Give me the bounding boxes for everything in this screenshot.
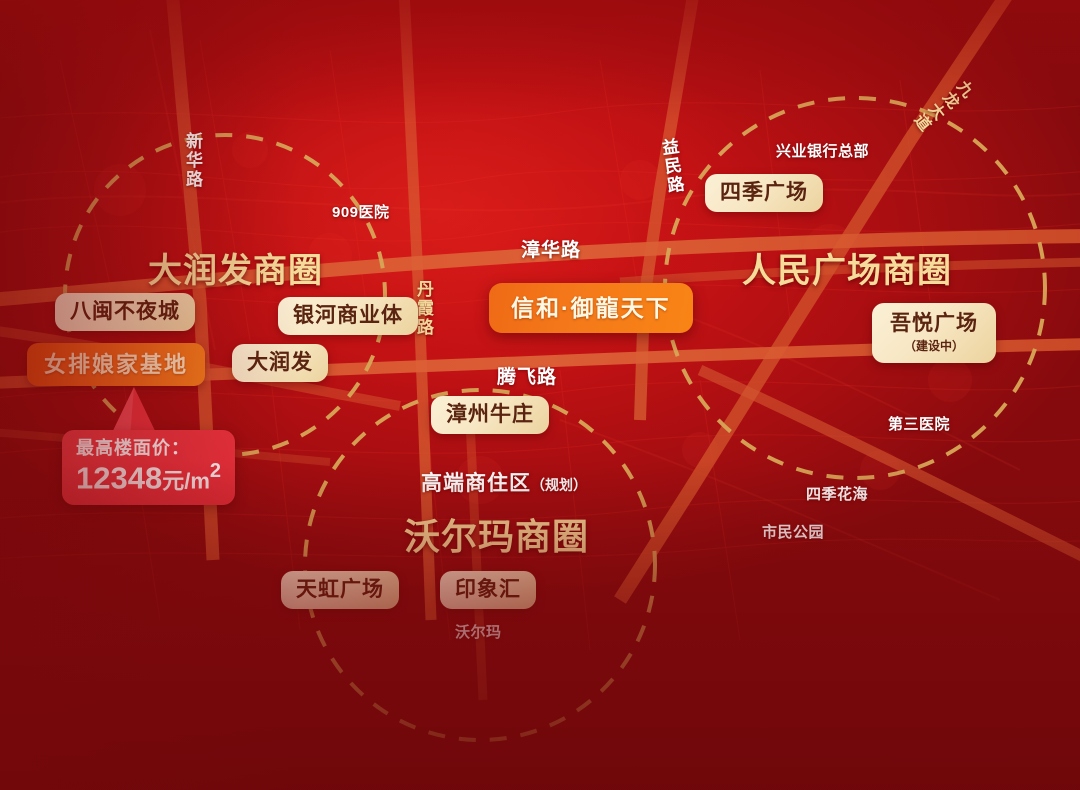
road-label-zhanghua-lu: 漳华路 bbox=[521, 235, 581, 262]
road-label-tengfei-lu: 腾飞路 bbox=[497, 362, 557, 389]
poi-third-hospital: 第三医院 bbox=[888, 413, 950, 434]
badge-label: 吾悦广场 bbox=[890, 312, 978, 336]
badge-sublabel: （建设中） bbox=[904, 337, 964, 354]
top-vignette bbox=[0, 0, 1080, 120]
badge-label: 信和·御龍天下 bbox=[511, 295, 671, 321]
poi-909-hospital: 909医院 bbox=[332, 201, 390, 222]
badge-four-seasons-plaza[interactable]: 四季广场 bbox=[705, 174, 823, 212]
poi-industrial-bank-hq: 兴业银行总部 bbox=[776, 140, 869, 161]
badge-label: 漳州牛庄 bbox=[446, 403, 534, 427]
district-title-renmin-square: 人民广场商圈 bbox=[742, 243, 952, 292]
badge-zhangzhou-niuzhuang[interactable]: 漳州牛庄 bbox=[431, 396, 549, 434]
badge-label: 四季广场 bbox=[720, 181, 808, 205]
badge-label: 银河商业体 bbox=[293, 304, 403, 328]
map-canvas: 大润发商圈 人民广场商圈 沃尔玛商圈 高端商住区（规划） 新华路 丹霞路 漳华路… bbox=[0, 0, 1080, 790]
badge-wuyue-plaza[interactable]: 吾悦广场 （建设中） bbox=[872, 303, 996, 363]
badge-xinhe-yulong-tianxia[interactable]: 信和·御龍天下 bbox=[489, 283, 693, 333]
